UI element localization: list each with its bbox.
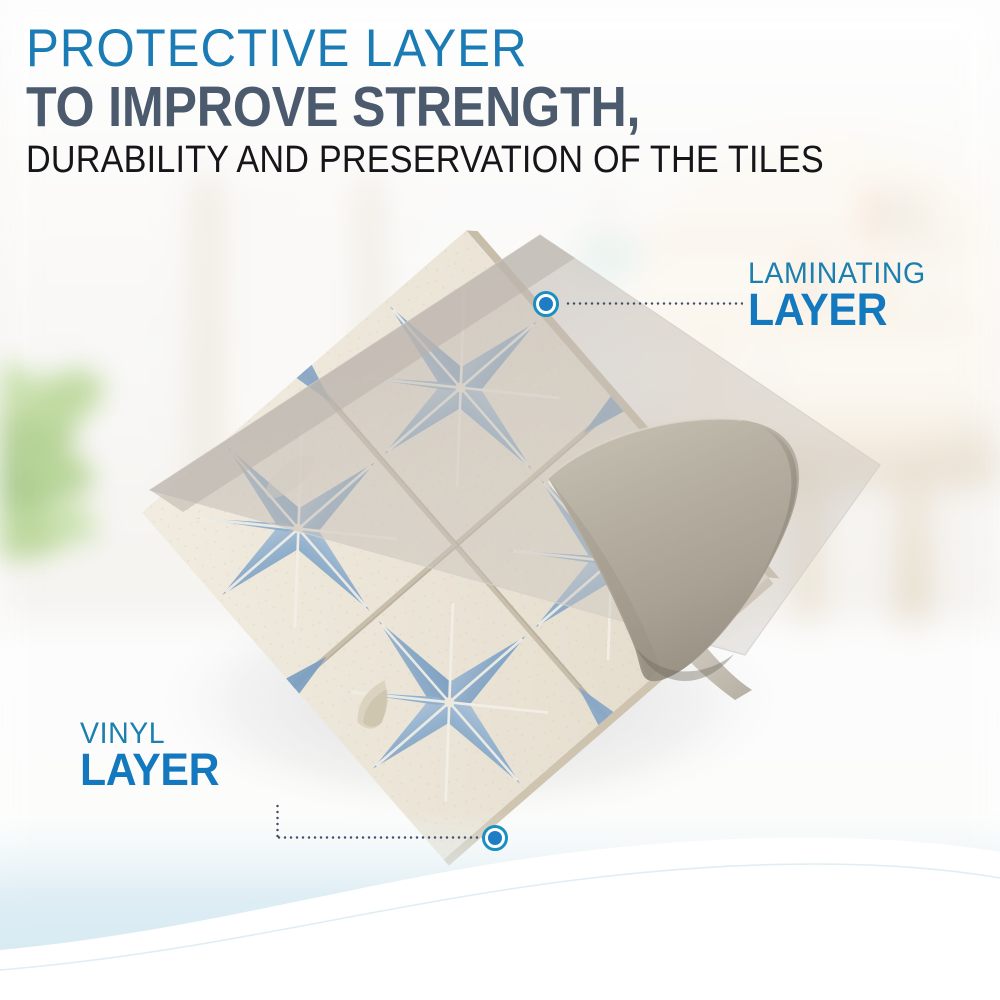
product-infographic: PROTECTIVE LAYER TO IMPROVE STRENGTH, DU… (0, 0, 1000, 1000)
leader-line-vinyl-vertical (276, 803, 279, 839)
callout-vinyl-big-label: LAYER (80, 747, 219, 792)
callout-laminating-layer: LAMINATING LAYER (748, 258, 935, 332)
callout-laminating-big-label: LAYER (748, 287, 926, 332)
marker-dot (488, 831, 502, 845)
headline-block: PROTECTIVE LAYER TO IMPROVE STRENGTH, DU… (26, 22, 926, 180)
marker-laminating-icon[interactable] (533, 291, 559, 317)
marker-vinyl-icon[interactable] (482, 825, 508, 851)
headline-line-1: PROTECTIVE LAYER (26, 22, 863, 76)
marker-dot (539, 297, 553, 311)
callout-vinyl-layer: VINYL LAYER (80, 718, 226, 792)
leader-line-vinyl-horizontal (276, 836, 488, 839)
headline-line-2: TO IMPROVE STRENGTH, (26, 78, 818, 136)
headline-line-3: DURABILITY AND PRESERVATION OF THE TILES (26, 140, 836, 180)
leader-line-laminating (565, 302, 743, 305)
